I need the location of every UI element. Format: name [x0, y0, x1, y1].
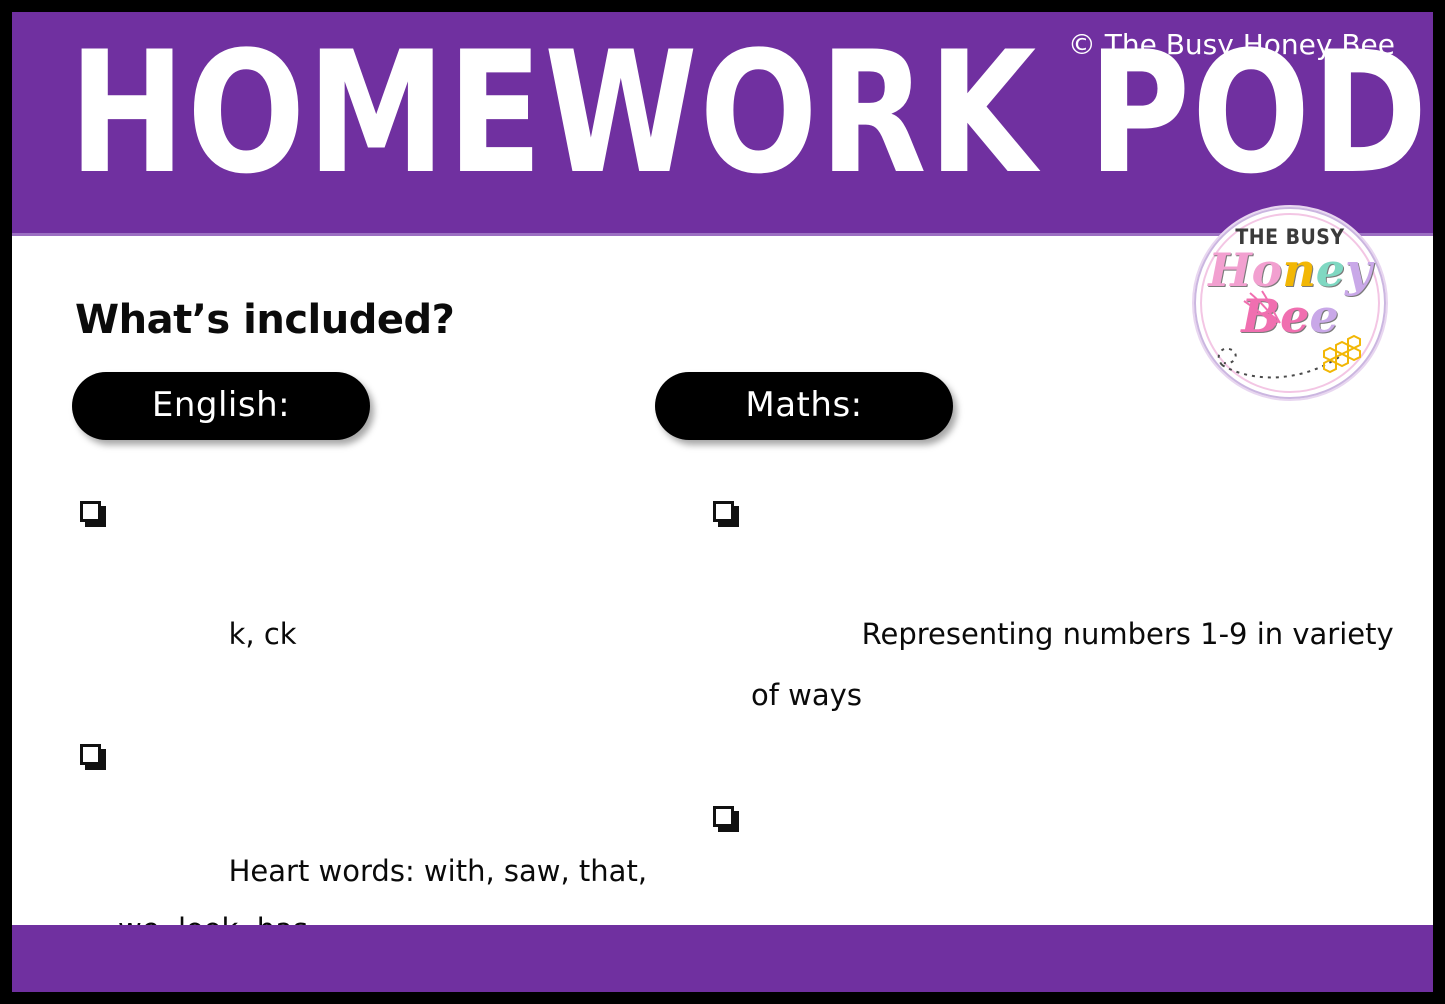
column-left: English: k, ck Heart words: with, saw, t…: [72, 372, 692, 992]
section-label-english: English:: [72, 386, 370, 424]
list-item[interactable]: Representing numbers 1-9 in variety of w…: [705, 482, 1395, 787]
section-heading-english: English:: [72, 372, 370, 440]
footer-copyright: © The Busy Honey Bee: [1068, 26, 1395, 64]
section-english: English: k, ck Heart words: with, saw, t…: [72, 372, 692, 992]
list-item-label: Representing numbers 1-9 in variety of w…: [751, 617, 1403, 712]
list-item-label: k, ck: [229, 617, 297, 651]
section-heading-maths: Maths:: [655, 372, 953, 440]
section-maths: Maths: Representing numbers 1-9 in varie…: [655, 372, 1395, 992]
column-right: Maths: Representing numbers 1-9 in varie…: [655, 372, 1395, 992]
checkbox-icon[interactable]: [713, 501, 734, 522]
checkbox-icon[interactable]: [80, 744, 101, 765]
list-item[interactable]: k, ck: [72, 482, 692, 726]
checkbox-icon[interactable]: [713, 806, 734, 827]
whats-included-heading: What’s included?: [75, 295, 454, 345]
checkbox-icon[interactable]: [80, 501, 101, 522]
slide-canvas: HOMEWORK POD THE BUSY Honey Bee: [12, 12, 1433, 992]
slide-page: HOMEWORK POD THE BUSY Honey Bee: [0, 0, 1445, 1004]
footer-band: [12, 925, 1433, 992]
checklist-english: k, ck Heart words: with, saw, that, we, …: [72, 482, 692, 992]
checklist-maths: Representing numbers 1-9 in variety of w…: [655, 482, 1395, 992]
section-label-maths: Maths:: [655, 386, 953, 424]
